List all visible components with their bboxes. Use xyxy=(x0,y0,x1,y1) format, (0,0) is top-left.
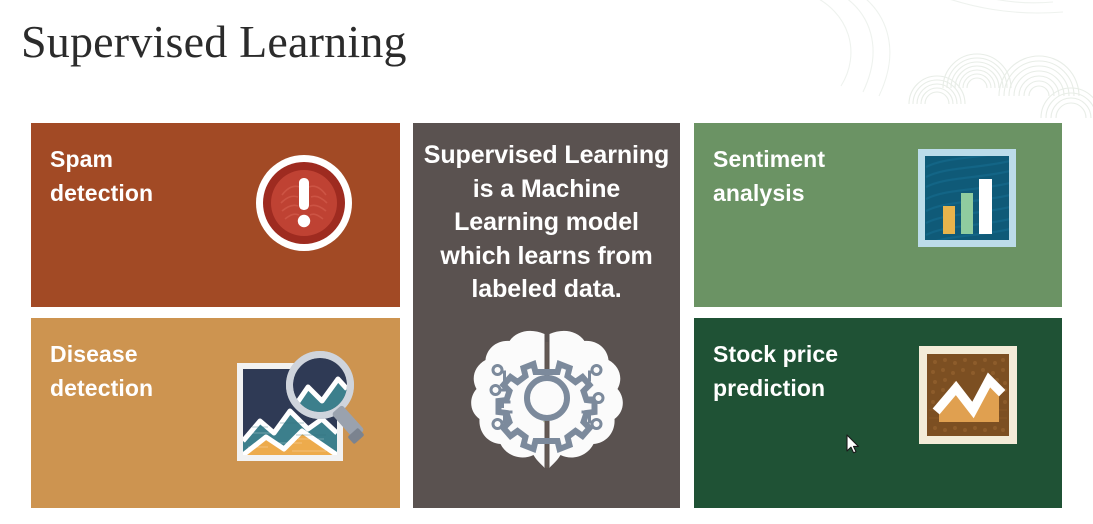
card-sentiment-analysis[interactable]: Sentiment analysis xyxy=(694,123,1062,307)
page-title: Supervised Learning xyxy=(21,14,407,70)
card-stock-price-prediction[interactable]: Stock price prediction xyxy=(694,318,1062,508)
card-spam-detection[interactable]: Spam detection xyxy=(31,123,400,307)
card-disease-detection[interactable]: Disease detection xyxy=(31,318,400,508)
card-spam-label: Spam detection xyxy=(50,142,153,210)
card-sentiment-label: Sentiment analysis xyxy=(713,142,825,210)
brain-gear-circuit-icon xyxy=(464,328,629,478)
bar-chart-icon xyxy=(918,149,1016,247)
card-stock-label: Stock price prediction xyxy=(713,337,838,405)
supervised-learning-definition-text: Supervised Learning is a Machine Learnin… xyxy=(413,139,680,307)
image-magnifier-icon xyxy=(232,343,377,468)
corner-watermark-decoration xyxy=(813,0,1093,118)
area-chart-icon xyxy=(919,346,1017,444)
card-supervised-learning-definition[interactable]: Supervised Learning is a Machine Learnin… xyxy=(413,123,680,508)
warning-exclamation-icon xyxy=(254,153,354,253)
cards-container: Spam detection xyxy=(31,123,1062,508)
card-disease-label: Disease detection xyxy=(50,337,153,405)
